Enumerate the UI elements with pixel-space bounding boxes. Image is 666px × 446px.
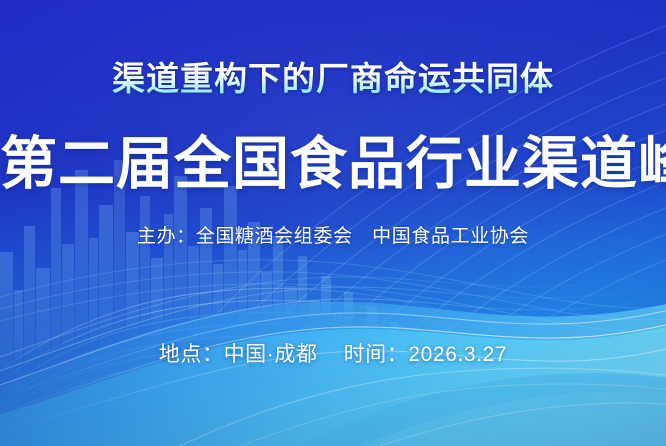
poster-organizer: 主办：全国糖酒会组委会 中国食品工业协会 [0, 222, 666, 252]
event-poster-banner: 渠道重构下的厂商命运共同体 第二届全国食品行业渠道峰会 主办：全国糖酒会组委会 … [0, 0, 666, 446]
poster-location: 地点：中国·成都 [159, 343, 318, 366]
poster-date: 时间：2026.3.27 [344, 343, 508, 366]
poster-title: 第二届全国食品行业渠道峰会 [0, 128, 666, 200]
poster-content: 渠道重构下的厂商命运共同体 第二届全国食品行业渠道峰会 主办：全国糖酒会组委会 … [0, 0, 666, 446]
poster-footer-info: 地点：中国·成都时间：2026.3.27 [0, 339, 666, 371]
poster-headline: 渠道重构下的厂商命运共同体 [0, 57, 666, 101]
